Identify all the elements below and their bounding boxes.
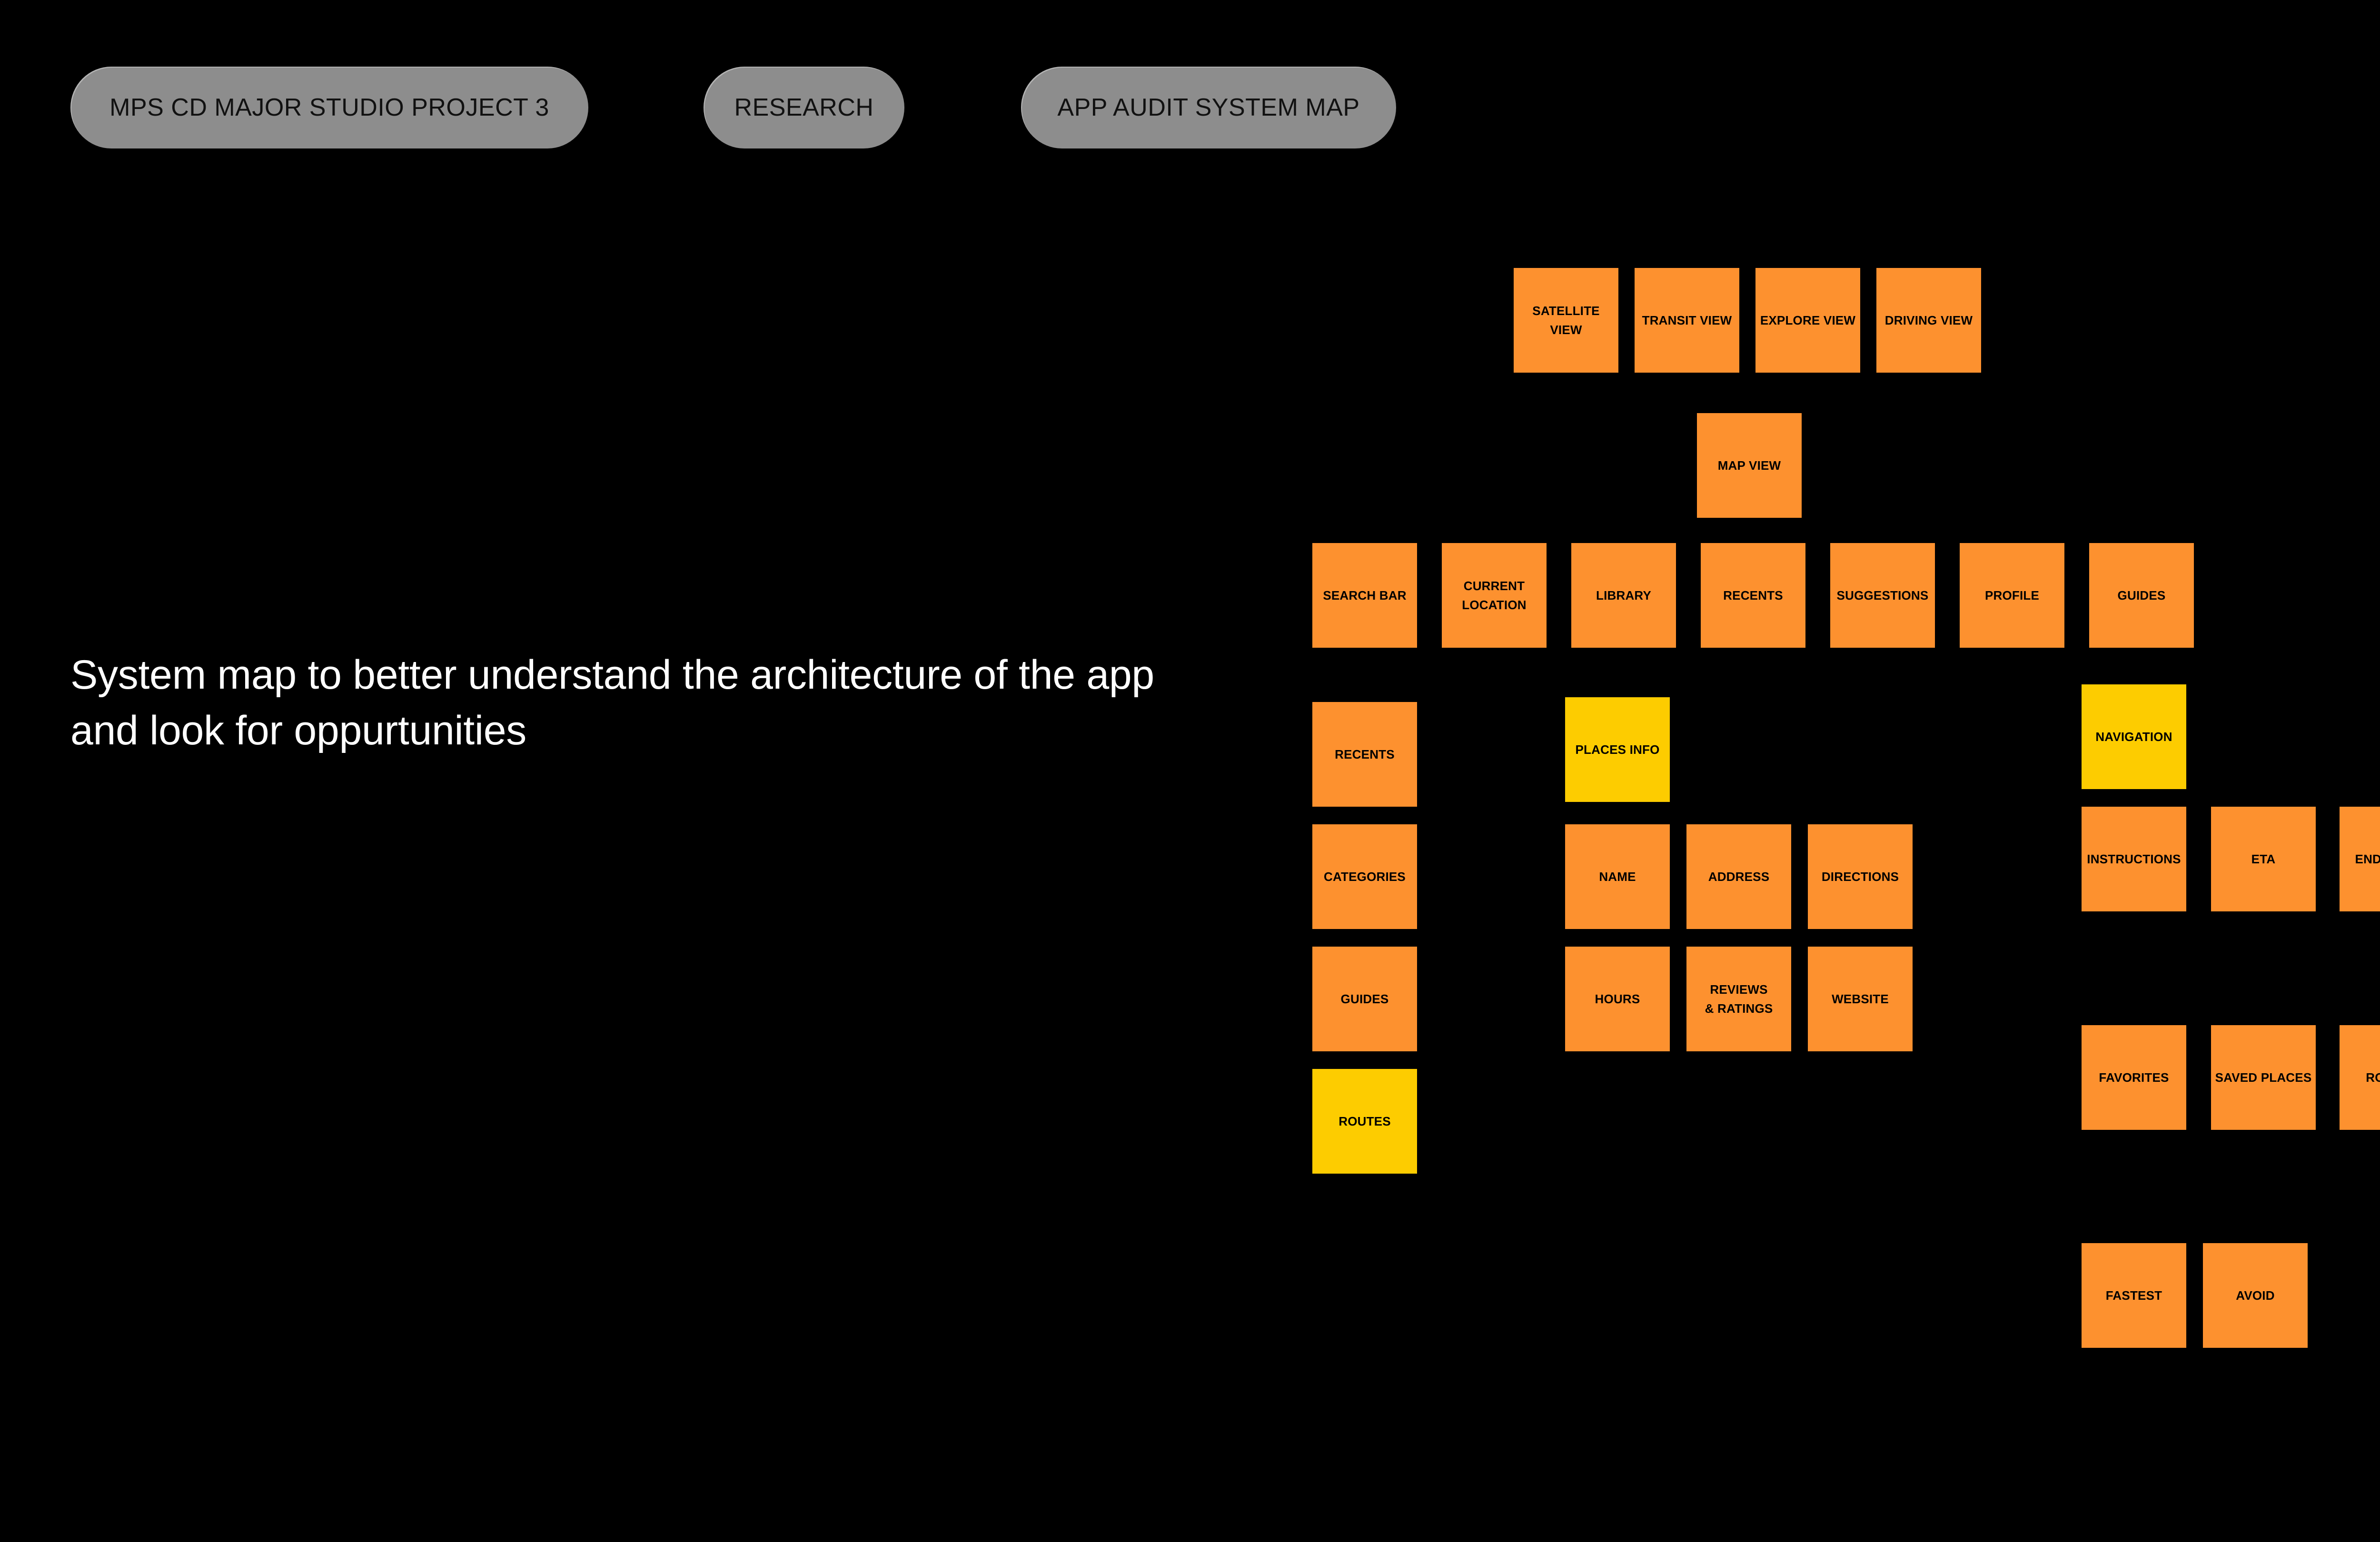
map-card-label: HOURS (1595, 989, 1640, 1008)
map-card[interactable]: SAVED PLACES (2211, 1025, 2316, 1130)
map-card[interactable]: MAP VIEW (1697, 413, 1802, 518)
map-card-label: SAVED PLACES (2215, 1068, 2312, 1087)
map-card[interactable]: ADDRESS (1686, 824, 1791, 929)
map-card[interactable]: CURRENT LOCATION (1442, 543, 1547, 648)
map-card[interactable]: NAME (1565, 824, 1670, 929)
map-card[interactable]: PROFILE (1960, 543, 2064, 648)
map-card[interactable]: GUIDES (2089, 543, 2194, 648)
map-card-label: FAVORITES (2099, 1068, 2169, 1087)
map-card-label: AVOID (2236, 1286, 2274, 1305)
map-card[interactable]: END ROUTE (2340, 807, 2380, 911)
map-card[interactable]: WEBSITE (1808, 947, 1913, 1051)
map-card-label: END ROUTE (2355, 850, 2380, 869)
map-card-label: REVIEWS & RATINGS (1705, 980, 1773, 1018)
map-card[interactable]: ROUTES (2340, 1025, 2380, 1130)
map-card-label: FASTEST (2106, 1286, 2162, 1305)
map-card-label: RECENTS (1723, 586, 1783, 605)
description-text: System map to better understand the arch… (70, 647, 1165, 759)
breadcrumb-item-label: RESEARCH (734, 93, 874, 122)
map-card-label: PLACES INFO (1576, 740, 1660, 759)
map-card[interactable]: FASTEST (2082, 1243, 2186, 1348)
map-card[interactable]: RECENTS (1701, 543, 1805, 648)
map-card-label: EXPLORE VIEW (1760, 311, 1855, 330)
map-card-label: DIRECTIONS (1822, 867, 1899, 886)
map-card-label: ROUTES (1339, 1112, 1391, 1131)
system-map-canvas: MPS CD MAJOR STUDIO PROJECT 3 RESEARCH A… (0, 0, 2380, 1542)
map-card-label: GUIDES (2118, 586, 2166, 605)
map-card[interactable]: ETA (2211, 807, 2316, 911)
map-card[interactable]: REVIEWS & RATINGS (1686, 947, 1791, 1051)
map-card[interactable]: CATEGORIES (1312, 824, 1417, 929)
map-card-label: TRANSIT VIEW (1642, 311, 1732, 330)
map-card-label: PROFILE (1985, 586, 2039, 605)
map-card-label: ADDRESS (1708, 867, 1770, 886)
map-card-label: SEARCH BAR (1323, 586, 1406, 605)
map-card-label: GUIDES (1341, 989, 1389, 1008)
map-card-label: MAP VIEW (1718, 456, 1781, 475)
map-card-label: DRIVING VIEW (1885, 311, 1973, 330)
map-card[interactable]: HOURS (1565, 947, 1670, 1051)
map-card[interactable]: SEARCH BAR (1312, 543, 1417, 648)
map-card-label: INSTRUCTIONS (2087, 850, 2181, 869)
map-card[interactable]: SATELLITE VIEW (1514, 268, 1618, 373)
map-card-label: NAVIGATION (2095, 727, 2172, 746)
map-card[interactable]: LIBRARY (1571, 543, 1676, 648)
breadcrumb-item-label: MPS CD MAJOR STUDIO PROJECT 3 (109, 93, 549, 122)
map-card[interactable]: INSTRUCTIONS (2082, 807, 2186, 911)
map-card-label: CURRENT LOCATION (1462, 576, 1526, 615)
map-card[interactable]: PLACES INFO (1565, 697, 1670, 802)
map-card-label: NAME (1599, 867, 1636, 886)
map-card-label: SATELLITE VIEW (1516, 301, 1616, 340)
map-card[interactable]: GUIDES (1312, 947, 1417, 1051)
map-card-label: WEBSITE (1832, 989, 1889, 1008)
map-card[interactable]: RECENTS (1312, 702, 1417, 807)
map-card-label: SUGGESTIONS (1837, 586, 1929, 605)
map-card[interactable]: FAVORITES (2082, 1025, 2186, 1130)
map-card[interactable]: EXPLORE VIEW (1755, 268, 1860, 373)
map-card[interactable]: DRIVING VIEW (1876, 268, 1981, 373)
map-card-label: CATEGORIES (1324, 867, 1406, 886)
map-card-label: LIBRARY (1596, 586, 1651, 605)
map-card-label: RECENTS (1335, 745, 1395, 764)
map-card[interactable]: NAVIGATION (2082, 684, 2186, 789)
map-card[interactable]: DIRECTIONS (1808, 824, 1913, 929)
map-card[interactable]: ROUTES (1312, 1069, 1417, 1174)
map-card-label: ROUTES (2366, 1068, 2380, 1087)
breadcrumb-item-research[interactable]: RESEARCH (704, 67, 904, 148)
breadcrumb-item-label: APP AUDIT SYSTEM MAP (1057, 93, 1359, 122)
map-card[interactable]: SUGGESTIONS (1830, 543, 1935, 648)
map-card[interactable]: AVOID (2203, 1243, 2308, 1348)
breadcrumb-item-project[interactable]: MPS CD MAJOR STUDIO PROJECT 3 (70, 67, 588, 148)
breadcrumb-item-app-audit-system-map[interactable]: APP AUDIT SYSTEM MAP (1021, 67, 1396, 148)
map-card[interactable]: TRANSIT VIEW (1635, 268, 1739, 373)
map-card-label: ETA (2251, 850, 2276, 869)
